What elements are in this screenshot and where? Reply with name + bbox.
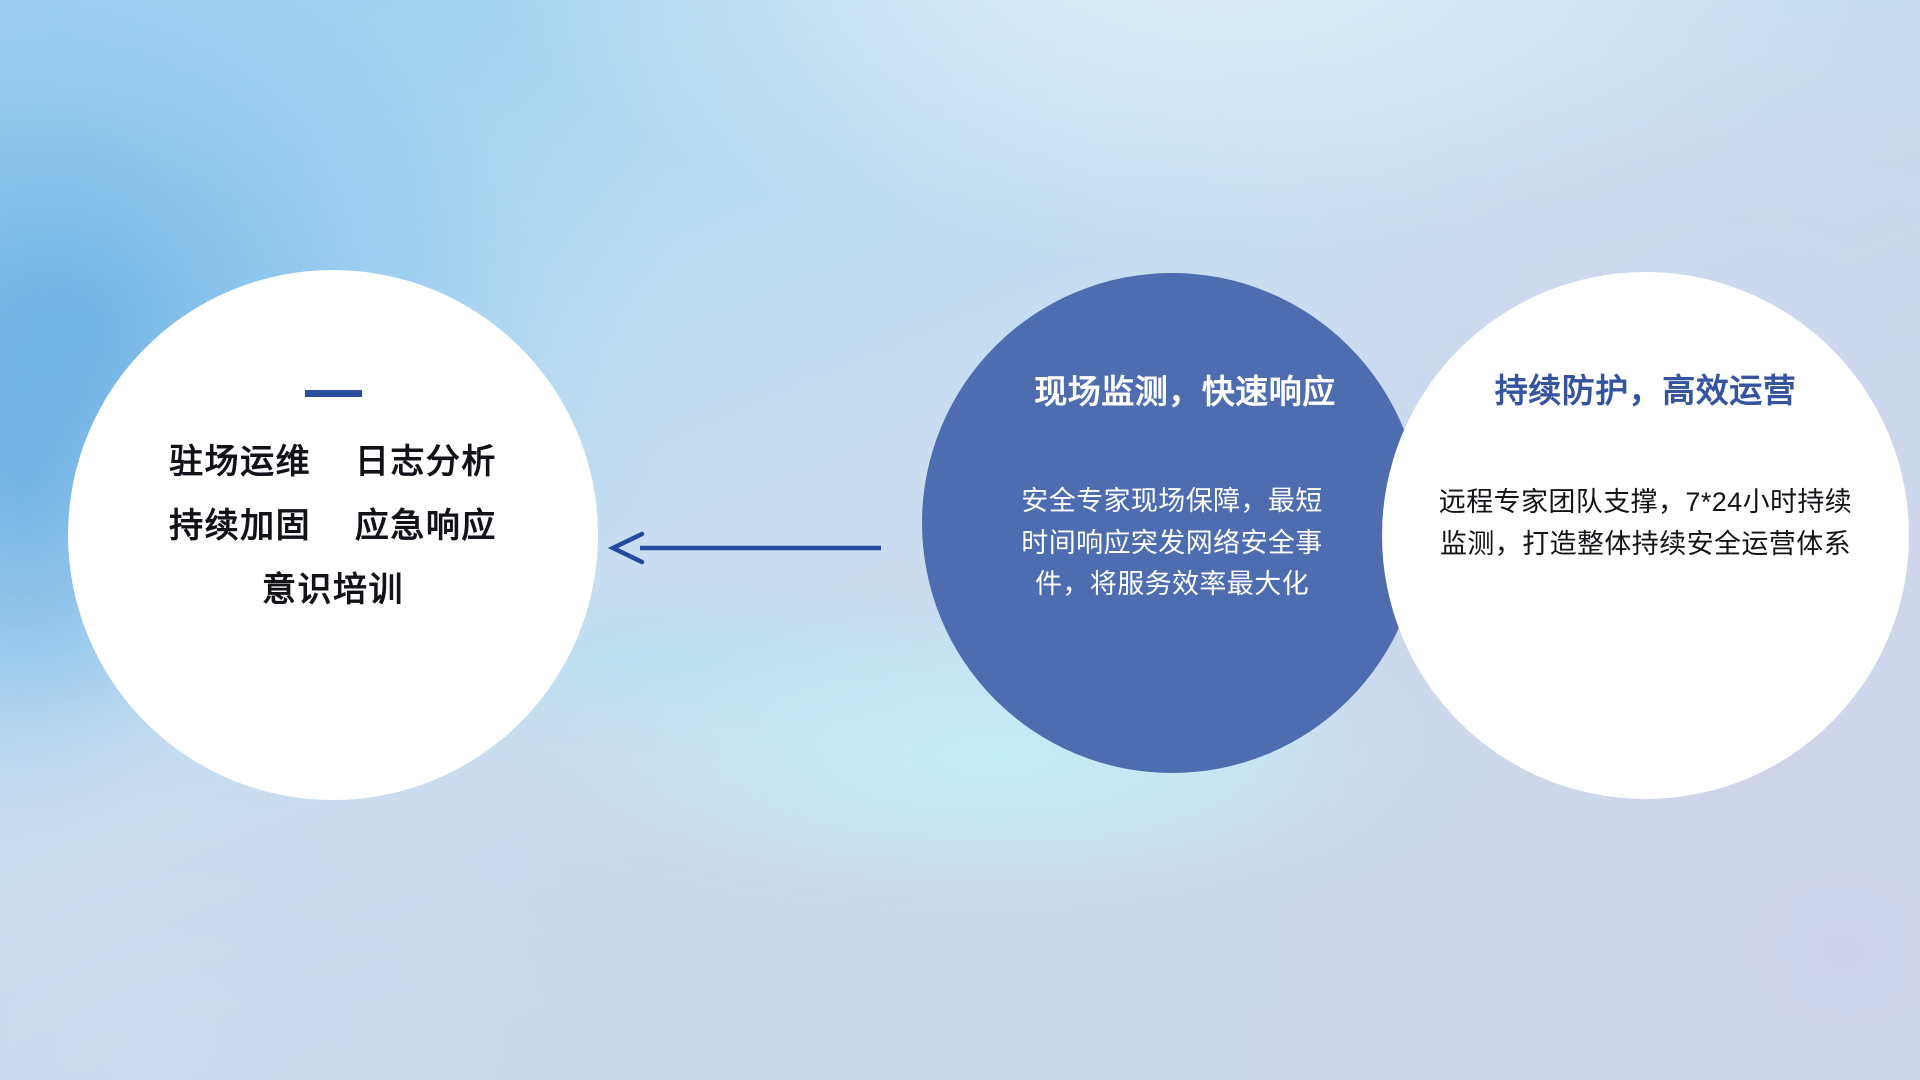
arrow-connector <box>606 525 881 571</box>
right-circle-title: 持续防护，高效运营 <box>1495 364 1797 412</box>
left-circle-divider-rule <box>305 390 362 397</box>
middle-circle-title: 现场监测，快速响应 <box>1034 365 1336 413</box>
right-circle-content: 持续防护，高效运营 远程专家团队支撑，7*24小时持续监测，打造整体持续安全运营… <box>1382 272 1909 799</box>
right-circle-body-text: 远程专家团队支撑，7*24小时持续监测，打造整体持续安全运营体系 <box>1436 482 1856 565</box>
left-circle-line-2: 持续加固 应急响应 <box>169 509 497 543</box>
left-circle-line-1: 驻场运维 日志分析 <box>169 445 497 479</box>
left-circle-line-3: 意识培训 <box>262 573 404 607</box>
middle-circle-body-text: 安全专家现场保障，最短时间响应突发网络安全事件，将服务效率最大化 <box>1014 481 1330 606</box>
left-circle-content: 驻场运维 日志分析 持续加固 应急响应 意识培训 <box>68 270 598 800</box>
left-arrow-icon <box>606 525 881 571</box>
slide-canvas: 驻场运维 日志分析 持续加固 应急响应 意识培训 现场监测，快速响应 安全专家现… <box>0 0 1920 1080</box>
